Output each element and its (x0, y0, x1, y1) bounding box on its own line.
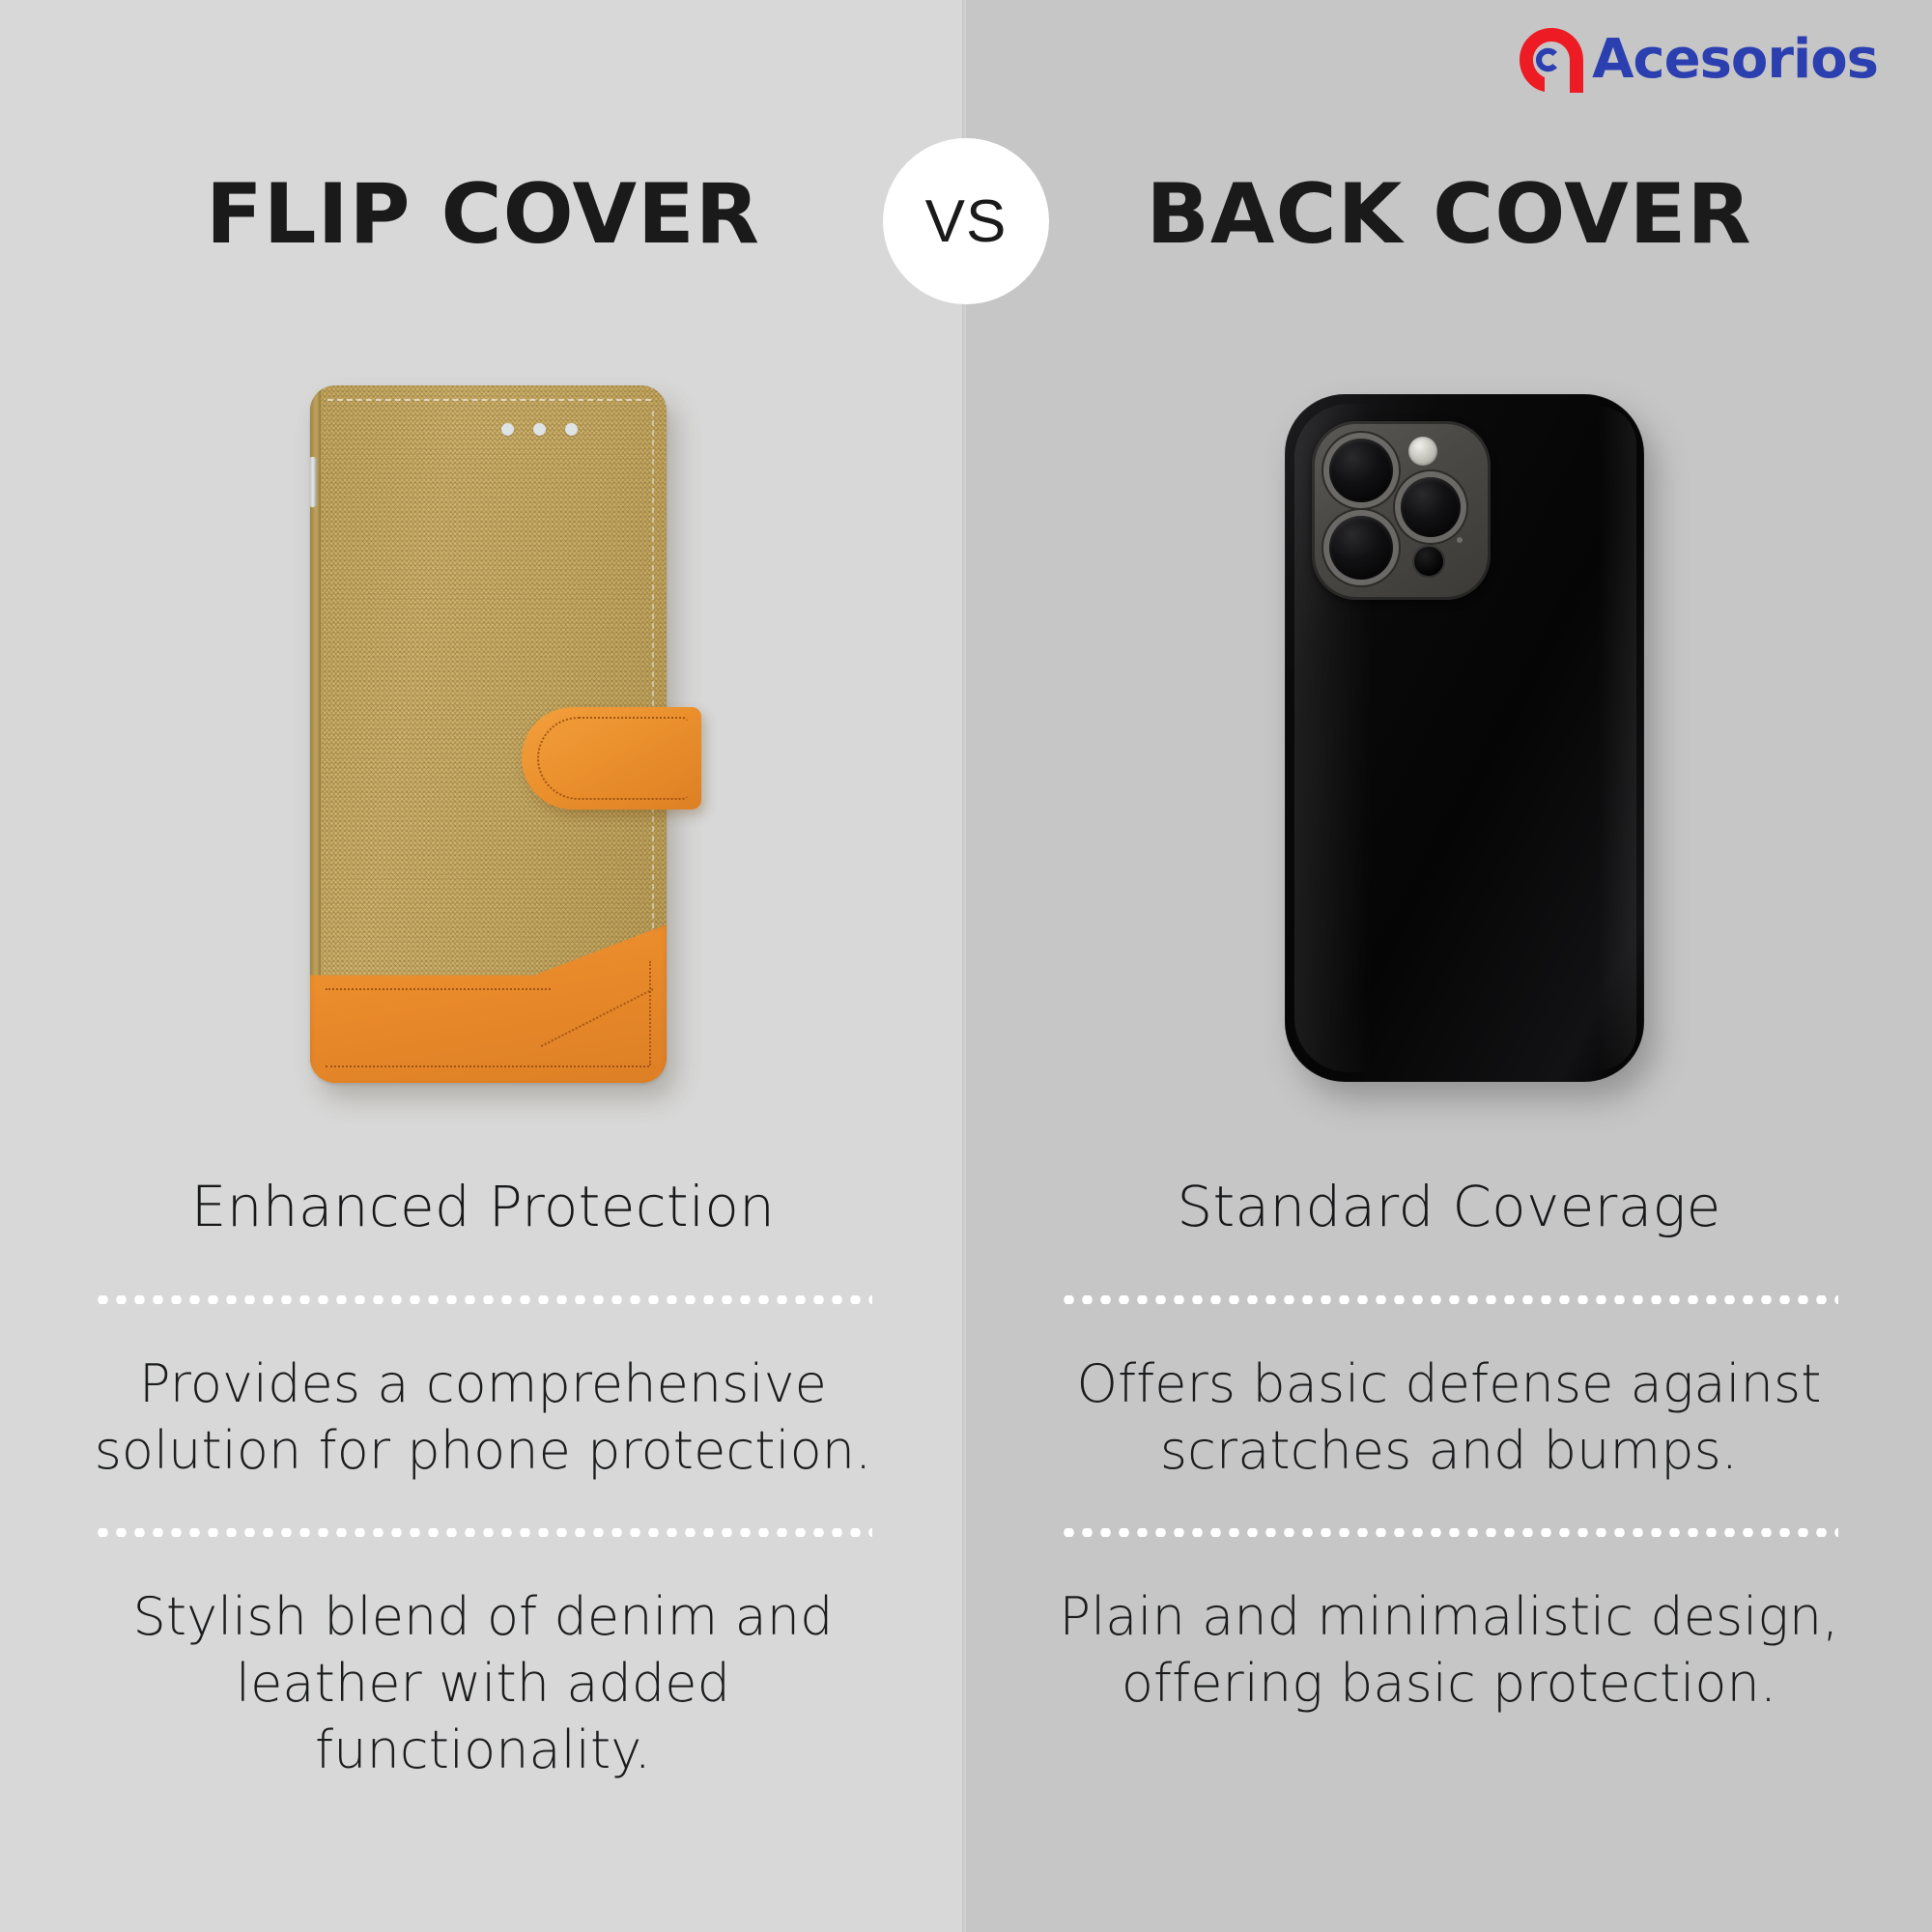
camera-lens-telephoto-icon (1401, 477, 1461, 537)
flip-cover-leather-stitching (310, 924, 667, 1083)
back-cover-product-image (1285, 394, 1644, 1082)
feature-text-left-2: Stylish blend of denim and leather with … (87, 1583, 879, 1783)
flip-cover-magnetic-tab (522, 707, 701, 810)
heading-flip-cover: FLIP COVER (0, 166, 966, 263)
camera-lens-ultrawide-icon (1329, 516, 1393, 580)
flip-cover-leather-edge-stitch (649, 961, 651, 1065)
flip-cover-side-stitching (652, 411, 654, 938)
dotted-divider-left-1 (94, 1295, 872, 1304)
subtitle-left: Enhanced Protection (0, 1174, 966, 1239)
vs-label: VS (925, 187, 1008, 256)
product-stage-right (966, 367, 1932, 1121)
feature-text-right-1: Offers basic defense against scratches a… (1053, 1350, 1845, 1484)
flip-cover-top-stitching (327, 399, 651, 401)
flip-cover-speaker-dots (501, 423, 578, 436)
back-cover-right-highlight (1598, 406, 1636, 1070)
camera-flash-icon (1408, 437, 1437, 466)
dotted-divider-right-2 (1060, 1528, 1838, 1537)
lidar-sensor-icon (1412, 545, 1445, 578)
brand-logo: Acesorios (1515, 23, 1878, 97)
flip-cover-tab-stitching (537, 717, 688, 800)
camera-lens-wide-icon (1329, 439, 1393, 502)
product-stage-left (0, 367, 966, 1121)
content-column-right: Standard Coverage Offers basic defense a… (966, 1174, 1932, 1717)
feature-text-right-2: Plain and minimalistic design, offering … (1053, 1583, 1845, 1717)
heading-back-cover: BACK COVER (966, 166, 1932, 263)
brand-name: Acesorios (1592, 23, 1878, 97)
feature-text-left-1: Provides a comprehensive solution for ph… (87, 1350, 879, 1484)
microphone-dot-icon (1457, 537, 1463, 543)
subtitle-right: Standard Coverage (966, 1174, 1932, 1239)
flip-cover-side-button (310, 457, 317, 507)
infographic-canvas: Acesorios FLIP COVER BACK COVER VS (0, 0, 1932, 1932)
camera-module (1312, 421, 1491, 600)
dotted-divider-left-2 (94, 1528, 872, 1537)
vs-badge: VS (883, 138, 1049, 304)
acesorios-mark-icon (1515, 23, 1588, 97)
dotted-divider-right-1 (1060, 1295, 1838, 1304)
content-column-left: Enhanced Protection Provides a comprehen… (0, 1174, 966, 1784)
